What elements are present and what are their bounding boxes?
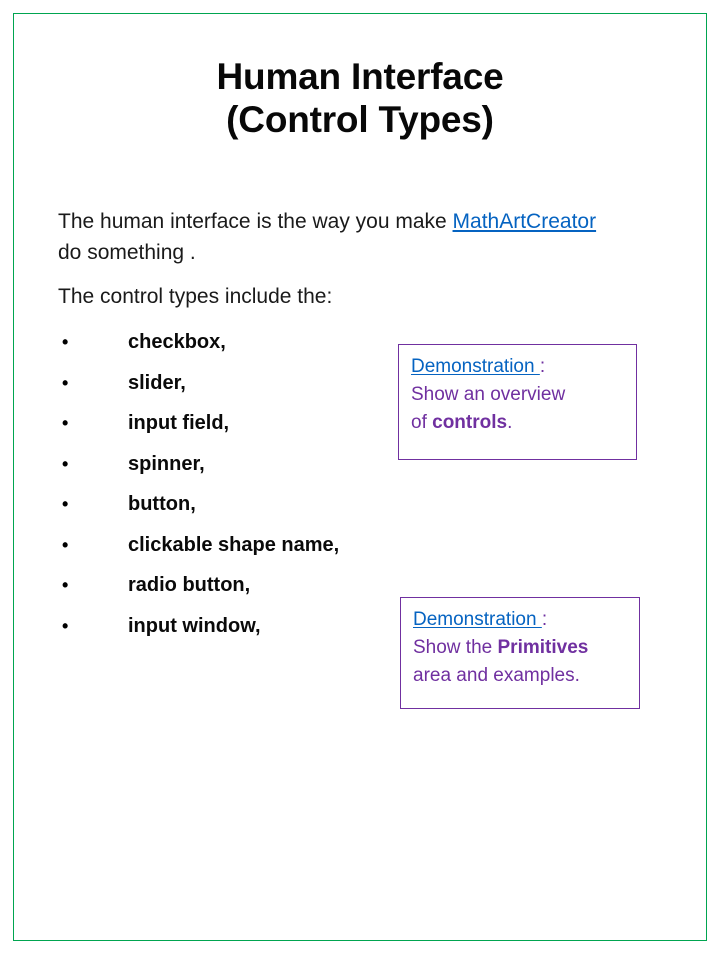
list-item-label: radio button, — [128, 565, 398, 606]
bullet-icon: • — [62, 322, 68, 363]
callout-body-text-after: . — [507, 412, 512, 433]
callout-body-line-2: of controls. — [411, 409, 626, 437]
intro-text-before-link: The human interface is the way you make — [58, 210, 453, 233]
callout-body-line-1: Show the Primitives — [413, 634, 629, 662]
list-item-label: clickable shape name, — [128, 525, 398, 566]
list-item-label: button, — [128, 484, 398, 525]
page-title-line-2: (Control Types) — [60, 99, 660, 142]
demonstration-callout-primitives: Demonstration : Show the Primitives area… — [400, 597, 640, 709]
list-item: • button, — [58, 484, 398, 525]
list-item-label: spinner, — [128, 444, 398, 485]
intro-paragraph: The human interface is the way you make … — [58, 206, 618, 268]
page-title-line-1: Human Interface — [60, 56, 660, 99]
matharteator-link[interactable]: MathArtCreator — [453, 210, 597, 233]
list-item: • spinner, — [58, 444, 398, 485]
callout-emphasis-controls: controls — [432, 412, 507, 433]
callout-heading-line: Demonstration : — [411, 353, 626, 381]
list-item: • checkbox, — [58, 322, 398, 363]
bullet-icon: • — [62, 403, 68, 444]
demonstration-link[interactable]: Demonstration — [413, 609, 542, 630]
demonstration-link[interactable]: Demonstration — [411, 356, 540, 377]
list-item-label: slider, — [128, 363, 398, 404]
page-title: Human Interface (Control Types) — [60, 56, 660, 142]
list-item: • radio button, — [58, 565, 398, 606]
list-item-label: input field, — [128, 403, 398, 444]
list-item-label: input window, — [128, 606, 398, 647]
list-item: • slider, — [58, 363, 398, 404]
bullet-icon: • — [62, 444, 68, 485]
slide: Human Interface (Control Types) The huma… — [0, 0, 720, 960]
bullet-icon: • — [62, 565, 68, 606]
callout-colon: : — [542, 609, 547, 630]
callout-body-text-before: of — [411, 412, 432, 433]
list-item: • input window, — [58, 606, 398, 647]
callout-body-line-2: area and examples. — [413, 662, 629, 690]
intro-text-after-link: do something . — [58, 241, 196, 264]
bullet-icon: • — [62, 525, 68, 566]
demonstration-callout-controls: Demonstration : Show an overview of cont… — [398, 344, 637, 460]
control-types-lead-in: The control types include the: — [58, 281, 618, 312]
bullet-icon: • — [62, 363, 68, 404]
bullet-icon: • — [62, 484, 68, 525]
callout-emphasis-primitives: Primitives — [498, 637, 589, 658]
list-item: • input field, — [58, 403, 398, 444]
callout-colon: : — [540, 356, 545, 377]
list-item-label: checkbox, — [128, 322, 398, 363]
callout-heading-line: Demonstration : — [413, 606, 629, 634]
control-types-list: • checkbox, • slider, • input field, • s… — [58, 322, 398, 646]
list-item: • clickable shape name, — [58, 525, 398, 566]
callout-body-line-1: Show an overview — [411, 381, 626, 409]
bullet-icon: • — [62, 606, 68, 647]
callout-body-text-before: Show the — [413, 637, 498, 658]
